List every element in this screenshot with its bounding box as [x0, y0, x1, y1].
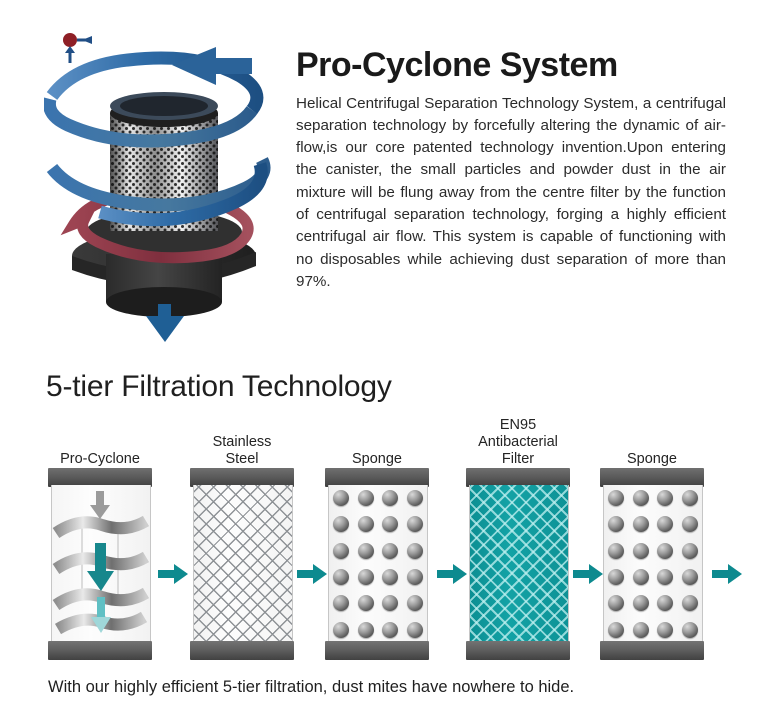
- stage-label: Sponge: [580, 451, 724, 468]
- stage-label: EN95AntibacterialFilter: [446, 417, 590, 468]
- sponge-cell: [633, 622, 649, 638]
- cyclone-helix-diagram: [52, 485, 150, 643]
- sponge-cell: [682, 490, 698, 506]
- hero-copy: Pro-Cyclone System Helical Centrifugal S…: [296, 48, 726, 293]
- flow-arrow-icon: [712, 564, 742, 584]
- sponge-cell: [633, 490, 649, 506]
- flow-arrow-icon: [297, 564, 327, 584]
- filter-canister: [48, 468, 152, 660]
- sponge-cell: [633, 595, 649, 611]
- sponge-cell: [633, 569, 649, 585]
- filter-canister: [600, 468, 704, 660]
- sponge-cell: [657, 516, 673, 532]
- sponge-cell: [382, 622, 398, 638]
- flow-arrow-icon: [573, 564, 603, 584]
- footer-note: With our highly efficient 5-tier filtrat…: [48, 678, 748, 697]
- sponge-cell: [608, 490, 624, 506]
- sponge-cell: [333, 595, 349, 611]
- sponge-cell: [608, 622, 624, 638]
- stage-label-line: Pro-Cyclone: [28, 451, 172, 468]
- stage-label-line: Steel: [170, 451, 314, 468]
- sponge-cell: [358, 622, 374, 638]
- stage-label: Pro-Cyclone: [28, 451, 172, 468]
- sponge-cell: [333, 569, 349, 585]
- sponge-cell-grid: [604, 485, 702, 643]
- filter-media-steel-mesh: [193, 485, 293, 643]
- red-dust-particle: [63, 33, 92, 63]
- stage-label: StainlessSteel: [170, 434, 314, 468]
- filtration-stage-4: EN95AntibacterialFilter: [466, 412, 570, 664]
- filtration-stage-1: Pro-Cyclone: [48, 412, 152, 664]
- stage-label-line: Stainless: [170, 434, 314, 451]
- sponge-cell: [682, 595, 698, 611]
- filtration-section: 5-tier Filtration Technology Pro-Cyclone…: [0, 356, 777, 720]
- infographic-page: Pro-Cyclone System Helical Centrifugal S…: [0, 0, 777, 720]
- sponge-cell: [682, 569, 698, 585]
- filter-canister: [466, 468, 570, 660]
- sponge-cell: [682, 543, 698, 559]
- sponge-cell: [358, 516, 374, 532]
- sponge-cell: [657, 543, 673, 559]
- sponge-cell: [608, 516, 624, 532]
- canister-bottom-cap: [325, 641, 429, 660]
- filter-media-teal-mesh: [469, 485, 569, 643]
- filter-canister: [190, 468, 294, 660]
- filter-canister: [325, 468, 429, 660]
- canister-bottom-cap: [190, 641, 294, 660]
- filtration-stage-3: Sponge: [325, 412, 429, 664]
- sponge-cell: [608, 543, 624, 559]
- sponge-cell: [382, 516, 398, 532]
- sponge-cell: [657, 595, 673, 611]
- sponge-cell: [608, 569, 624, 585]
- sponge-cell: [382, 490, 398, 506]
- sponge-cell: [333, 490, 349, 506]
- canister-bottom-cap: [48, 641, 152, 660]
- canister-bottom-cap: [466, 641, 570, 660]
- sponge-cell: [407, 516, 423, 532]
- filtration-stage-list: Pro-CycloneStainlessSteelSpongeEN95Antib…: [0, 412, 777, 664]
- sponge-cell: [633, 516, 649, 532]
- pro-cyclone-section: Pro-Cyclone System Helical Centrifugal S…: [0, 0, 777, 352]
- sponge-cell: [407, 490, 423, 506]
- filter-media-sponge: [328, 485, 428, 643]
- sponge-cell: [407, 543, 423, 559]
- filter-media-sponge: [603, 485, 703, 643]
- sponge-cell: [657, 569, 673, 585]
- sponge-cell: [358, 543, 374, 559]
- sponge-cell: [608, 595, 624, 611]
- sponge-cell: [657, 622, 673, 638]
- sponge-cell: [382, 569, 398, 585]
- sponge-cell: [682, 622, 698, 638]
- sponge-cell: [407, 622, 423, 638]
- filtration-stage-2: StainlessSteel: [190, 412, 294, 664]
- pro-cyclone-cutaway-illustration: [44, 18, 294, 348]
- antibacterial-mesh-pattern: [470, 485, 568, 643]
- sponge-cell: [682, 516, 698, 532]
- sponge-cell: [333, 543, 349, 559]
- flow-arrow-icon: [437, 564, 467, 584]
- sponge-cell: [657, 490, 673, 506]
- sponge-cell: [333, 622, 349, 638]
- stage-label-line: Sponge: [580, 451, 724, 468]
- filtration-stage-5: Sponge: [600, 412, 704, 664]
- filter-media-cyclone: [51, 485, 151, 643]
- sponge-cell: [407, 595, 423, 611]
- section-title: 5-tier Filtration Technology: [46, 370, 392, 404]
- steel-mesh-pattern: [194, 485, 292, 643]
- sponge-cell: [333, 516, 349, 532]
- stage-label-line: Sponge: [305, 451, 449, 468]
- sponge-cell: [407, 569, 423, 585]
- stage-label-line: Filter: [446, 451, 590, 468]
- stage-label-line: EN95: [446, 417, 590, 434]
- sponge-cell: [358, 569, 374, 585]
- sponge-cell: [358, 490, 374, 506]
- sponge-cell: [382, 595, 398, 611]
- sponge-cell: [633, 543, 649, 559]
- canister-bottom-cap: [600, 641, 704, 660]
- sponge-cell: [358, 595, 374, 611]
- flow-arrow-icon: [158, 564, 188, 584]
- stage-label: Sponge: [305, 451, 449, 468]
- page-title: Pro-Cyclone System: [296, 48, 726, 84]
- sponge-cell: [382, 543, 398, 559]
- sponge-cell-grid: [329, 485, 427, 643]
- hero-paragraph: Helical Centrifugal Separation Technolog…: [296, 93, 726, 293]
- stage-label-line: Antibacterial: [446, 434, 590, 451]
